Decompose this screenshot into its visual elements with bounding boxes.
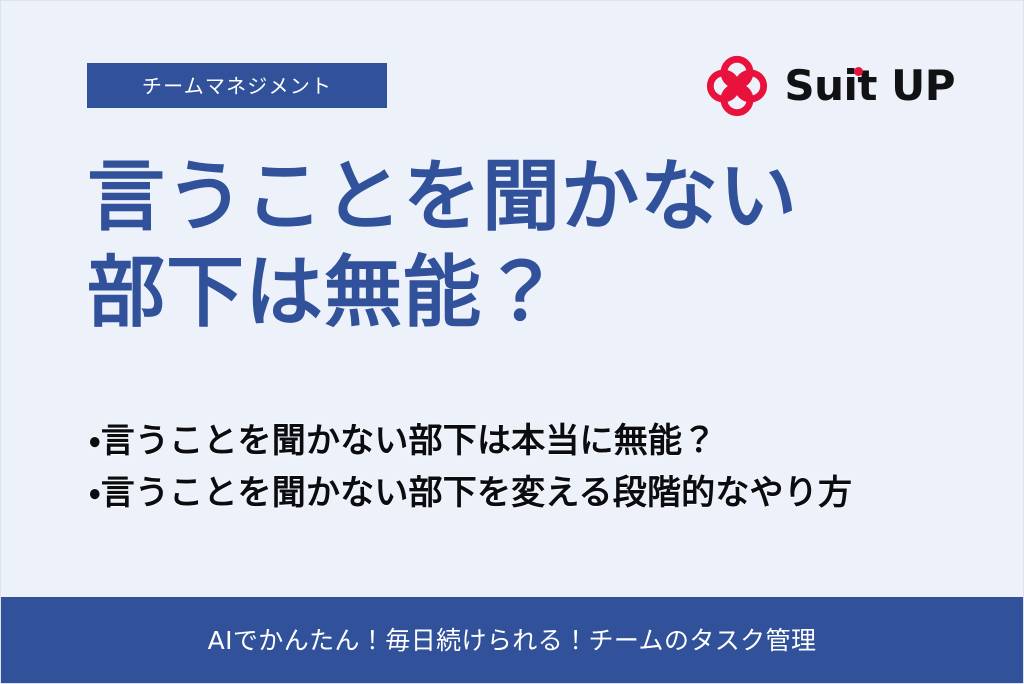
headline-line-1: 言うことを聞かない — [87, 149, 947, 245]
list-item: ・言うことを聞かない部下は本当に無能？ — [89, 415, 989, 467]
footer-tagline: AIでかんたん！毎日続けられる！チームのタスク管理 — [208, 628, 817, 653]
slide-canvas: チームマネジメント Suit UP 言うことを聞かない 部下は無能？ ・言うこと… — [0, 0, 1024, 684]
interlocking-rings-logo-icon — [706, 55, 768, 117]
page-title: 言うことを聞かない 部下は無能？ — [87, 149, 947, 341]
bullet-list: ・言うことを聞かない部下は本当に無能？ ・言うことを聞かない部下を変える段階的な… — [89, 415, 989, 519]
headline-line-2: 部下は無能？ — [87, 245, 947, 341]
brand-name: Suit UP — [784, 65, 955, 107]
category-badge: チームマネジメント — [87, 63, 387, 108]
slide-header: チームマネジメント Suit UP — [87, 63, 955, 119]
brand-lockup: Suit UP — [706, 55, 955, 117]
category-badge-label: チームマネジメント — [142, 76, 332, 96]
list-item: ・言うことを聞かない部下を変える段階的なやり方 — [89, 467, 989, 519]
footer-banner: AIでかんたん！毎日続けられる！チームのタスク管理 — [1, 597, 1023, 683]
brand-name-text: Suit UP — [784, 61, 955, 110]
